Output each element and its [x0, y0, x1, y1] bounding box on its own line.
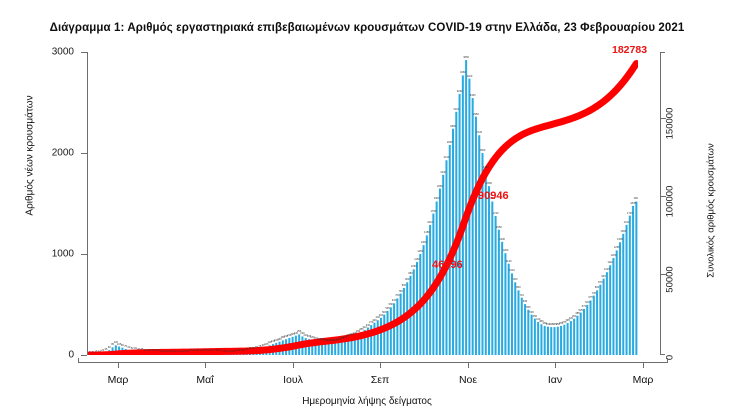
- bar-value-label: 1500: [620, 230, 626, 233]
- bar-value-label: 2090: [486, 182, 492, 185]
- bar-value-label: 735: [592, 292, 596, 295]
- bar-value-label: 8: [95, 350, 96, 353]
- bar: [626, 225, 628, 355]
- bar-value-label: 800: [516, 286, 520, 289]
- bar-value-label: 1610: [624, 221, 630, 224]
- bar: [612, 258, 614, 355]
- bar-value-label: 2500: [480, 149, 486, 152]
- bar: [609, 265, 611, 355]
- bar: [590, 300, 592, 355]
- bar-value-label: 620: [585, 301, 589, 304]
- annotation-mid-cases: 90946: [478, 190, 509, 202]
- bar: [619, 242, 621, 355]
- bar: [570, 321, 572, 355]
- bar-value-label: 1200: [611, 254, 617, 257]
- x-axis-tick-1: [205, 362, 206, 368]
- bar: [635, 201, 637, 355]
- y-axis-left-tick-2000: [81, 153, 87, 154]
- bar-value-label: 1110: [607, 261, 612, 264]
- bar-value-label: 525: [579, 309, 583, 312]
- bar: [521, 298, 523, 355]
- bar: [393, 303, 395, 355]
- y-axis-left-title: Αριθμός νέων κρουσμάτων: [25, 41, 36, 271]
- chart-canvas: [88, 52, 638, 355]
- bar-value-label: 500: [382, 311, 386, 314]
- bar: [383, 315, 385, 355]
- bar-value-label: 1060: [411, 265, 417, 268]
- bar: [488, 186, 490, 355]
- bar-value-label: 1360: [421, 241, 427, 244]
- bar-value-label: 870: [598, 281, 602, 284]
- bar-value-label: 2410: [444, 156, 450, 159]
- bar: [580, 313, 582, 355]
- bar-value-label: 980: [408, 272, 412, 275]
- bar-value-label: 60: [108, 346, 111, 349]
- bar-value-label: 485: [575, 312, 579, 315]
- y-axis-right-label-150000: 150000: [665, 108, 676, 140]
- bar: [337, 342, 339, 355]
- bar: [593, 296, 595, 355]
- bar: [495, 216, 497, 355]
- bar: [511, 273, 513, 355]
- bar-value-label: 1550: [496, 226, 502, 229]
- bar: [583, 309, 585, 355]
- bar-value-label: 3650: [463, 56, 469, 59]
- bar: [573, 319, 575, 355]
- bar-value-label: 630: [523, 300, 527, 303]
- bar: [491, 201, 493, 355]
- chart-title: Διάγραμμα 1: Αριθμός εργαστηριακά επιβεβ…: [0, 22, 734, 34]
- bar-value-label: 1900: [633, 197, 638, 200]
- y-axis-right-line: [660, 52, 661, 355]
- y-axis-left-tick-0: [81, 355, 87, 356]
- bar-value-label: 1395: [617, 238, 623, 241]
- bar: [498, 230, 500, 355]
- bar-value-label: 3180: [470, 94, 476, 97]
- bar: [586, 305, 588, 355]
- bar-value-label: 1725: [627, 212, 633, 215]
- bar-value-label: 1750: [430, 210, 436, 213]
- bar: [501, 242, 503, 355]
- bar-value-label: 5: [92, 351, 93, 354]
- bar-value-label: 2290: [483, 166, 489, 169]
- bar: [596, 290, 598, 355]
- x-axis-line: [78, 362, 668, 363]
- x-axis-title: Ημερομηνία λήψης δείγματος: [0, 396, 734, 407]
- bar-value-label: 1250: [417, 250, 423, 253]
- bar-value-label: 760: [398, 290, 402, 293]
- bar-value-label: 1130: [506, 260, 512, 263]
- cumulative-line-series: [90, 64, 637, 355]
- bar-value-label: 1260: [503, 249, 509, 252]
- x-axis-tick-0: [118, 362, 119, 368]
- bar-series: [89, 60, 638, 355]
- bar-value-label: 2600: [447, 141, 453, 144]
- bar-value-label: 3010: [453, 108, 459, 111]
- x-axis-label-2: Ιουλ: [263, 374, 323, 386]
- bar: [554, 327, 556, 355]
- bar: [603, 279, 605, 355]
- bar-value-label: 2060: [437, 185, 443, 188]
- bar-value-label: 500: [529, 311, 533, 314]
- bar-value-label: 1900: [434, 197, 440, 200]
- x-axis-tick-5: [555, 362, 556, 368]
- bar-value-label: 675: [588, 296, 592, 299]
- bar: [331, 343, 333, 355]
- bar-value-label: 2950: [473, 113, 479, 116]
- bar: [508, 264, 510, 355]
- bar: [540, 324, 542, 355]
- bar: [550, 327, 552, 355]
- y-axis-right-title: Συνολικός αριθμός κρουσμάτων: [706, 96, 717, 326]
- bar-value-label: 560: [526, 306, 530, 309]
- y-axis-left-tick-1000: [81, 254, 87, 255]
- x-axis-tick-3: [380, 362, 381, 368]
- y-axis-left-tick-3000: [81, 52, 87, 53]
- x-axis-label-3: Σεπ: [350, 374, 410, 386]
- bar-value-label: 640: [392, 299, 396, 302]
- bar-value-label: 3: [89, 351, 90, 354]
- bar-value-label: 1720: [493, 212, 499, 215]
- plot-area: 3581220356095120105907560524540353028252…: [88, 52, 638, 355]
- bar-value-label: 2230: [440, 171, 446, 174]
- x-axis-label-0: Μαρ: [88, 374, 148, 386]
- bar: [547, 327, 549, 355]
- annotation-total-cases: 182783: [612, 44, 647, 56]
- bar: [334, 343, 336, 355]
- bar: [560, 326, 562, 355]
- bar: [563, 325, 565, 355]
- x-axis-label-5: Ιαν: [525, 374, 585, 386]
- bar: [517, 290, 519, 355]
- bar: [557, 327, 559, 355]
- bar-value-label: 1610: [427, 221, 433, 224]
- bar-value-label: 710: [520, 294, 524, 297]
- bar-value-label: 830: [402, 284, 406, 287]
- chart-figure: Διάγραμμα 1: Αριθμός εργαστηριακά επιβεβ…: [0, 0, 734, 415]
- bar: [472, 98, 474, 355]
- bar: [396, 298, 398, 355]
- bar-value-label: 1150: [414, 258, 420, 261]
- bar: [544, 326, 546, 355]
- bar-value-label: 570: [582, 305, 586, 308]
- bar: [616, 250, 618, 355]
- plot-clip: 3581220356095120105907560524540353028252…: [88, 52, 638, 355]
- bar: [576, 316, 578, 355]
- bar: [632, 206, 634, 355]
- bar-value-label: 1295: [614, 246, 620, 249]
- bar: [629, 216, 631, 355]
- annotation-low-cases: 46996: [432, 259, 463, 271]
- bar-value-label: 900: [513, 278, 517, 281]
- bar-value-label: 945: [601, 275, 605, 278]
- bar-value-label: 2720: [476, 131, 482, 134]
- x-axis-tick-4: [468, 362, 469, 368]
- bar-value-label: 3420: [467, 75, 473, 78]
- x-axis-label-4: Νοε: [438, 374, 498, 386]
- bar: [387, 311, 389, 355]
- bar-value-label: 1025: [604, 268, 610, 271]
- bar: [537, 322, 539, 355]
- x-axis-tick-2: [293, 362, 294, 368]
- bar-value-label: 900: [405, 278, 409, 281]
- bar: [622, 234, 624, 355]
- bar-value-label: 1010: [509, 269, 515, 272]
- bar-value-label: 1480: [424, 231, 430, 234]
- x-axis-label-1: Μαΐ: [175, 374, 235, 386]
- bar: [475, 117, 477, 355]
- bar-value-label: 545: [385, 307, 389, 310]
- bar: [373, 323, 375, 355]
- bar: [514, 282, 516, 355]
- bar: [534, 319, 536, 355]
- bar: [504, 253, 506, 355]
- bar: [606, 272, 608, 355]
- bar: [341, 341, 343, 355]
- bar-value-label: 700: [395, 294, 399, 297]
- bar-value-label: 800: [595, 286, 599, 289]
- bar: [527, 310, 529, 355]
- bar: [328, 343, 330, 355]
- bar: [524, 304, 526, 355]
- bar-value-label: 2800: [450, 125, 456, 128]
- bar-value-label: 590: [389, 303, 393, 306]
- bar-value-label: 460: [379, 314, 383, 317]
- y-axis-right-label-100000: 100000: [665, 186, 676, 218]
- bar-value-label: 1400: [499, 238, 505, 241]
- bar: [567, 323, 569, 355]
- bar: [377, 320, 379, 355]
- bar: [531, 315, 533, 355]
- y-axis-left-label-0: 0: [28, 350, 74, 361]
- x-axis-label-6: Μαρ: [613, 374, 673, 386]
- bar: [478, 135, 480, 355]
- bar: [390, 307, 392, 355]
- bar-value-label: 450: [572, 315, 576, 318]
- bar: [380, 318, 382, 355]
- bar-value-label: 1845: [630, 202, 636, 205]
- bar-value-label: 3460: [460, 71, 466, 74]
- x-axis-tick-6: [643, 362, 644, 368]
- bar-value-label: 3230: [457, 90, 463, 93]
- bar: [599, 285, 601, 355]
- y-axis-right-label-50000: 50000: [665, 266, 676, 292]
